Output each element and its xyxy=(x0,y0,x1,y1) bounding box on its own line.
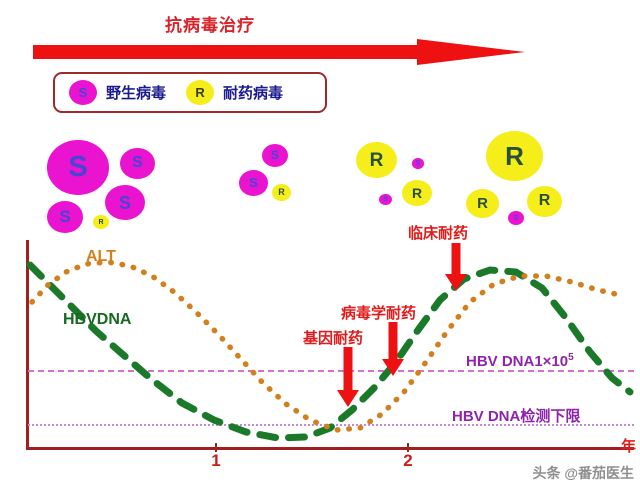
legend-resistant-virus-label: 耐药病毒 xyxy=(223,82,283,103)
legend-resistant-virus-icon: R xyxy=(186,80,214,105)
arrow-clinical-resistance xyxy=(445,243,467,291)
virion-resistant: R xyxy=(272,184,291,201)
virion-wild: S xyxy=(120,148,155,179)
virion-resistant: R xyxy=(527,186,562,217)
virion-wild: S xyxy=(47,201,83,233)
legend-wild-virus-label: 野生病毒 xyxy=(106,82,166,103)
arrow-virologic-resistance xyxy=(382,322,404,376)
virion-wild: S xyxy=(262,144,288,167)
x-axis-unit-label: 年 xyxy=(621,435,636,456)
arrow-genotypic-resistance xyxy=(337,347,359,407)
x-tick-label: 1 xyxy=(211,451,220,471)
legend: S 野生病毒 R 耐药病毒 xyxy=(53,72,327,113)
annotation-label-virologic-resistance: 病毒学耐药 xyxy=(341,302,416,323)
y-axis xyxy=(26,240,29,450)
virion-wild: S xyxy=(508,211,524,225)
hbv-resistance-diagram: 抗病毒治疗 S 野生病毒 R 耐药病毒 SSSSRSSRRSRSRRRS 12 … xyxy=(0,0,640,489)
legend-wild-virus-icon: S xyxy=(69,80,97,105)
virion-wild: S xyxy=(47,140,109,195)
annotation-label-clinical-resistance: 临床耐药 xyxy=(408,222,468,243)
curve-label-alt: ALT xyxy=(86,248,116,266)
virion-wild: S xyxy=(379,194,392,205)
x-axis xyxy=(26,447,634,450)
virion-resistant: R xyxy=(486,131,543,181)
virion-wild: S xyxy=(239,170,268,196)
virion-wild: S xyxy=(412,158,424,169)
watermark: 头条 @番茄医生 xyxy=(532,463,634,483)
annotation-label-genotypic-resistance: 基因耐药 xyxy=(303,327,363,348)
x-tick-label: 2 xyxy=(403,451,412,471)
threshold-label-detection-limit: HBV DNA检测下限 xyxy=(452,405,580,426)
virion-wild: S xyxy=(105,185,145,220)
virion-resistant: R xyxy=(356,142,397,178)
threshold-line-hbv-dna-1e5 xyxy=(28,370,634,372)
virion-resistant: R xyxy=(466,189,499,218)
antiviral-therapy-arrow xyxy=(33,39,525,65)
curve-label-hbvdna: HBVDNA xyxy=(63,311,131,329)
virion-resistant: R xyxy=(93,215,109,229)
page-title: 抗病毒治疗 xyxy=(0,11,420,36)
virion-resistant: R xyxy=(402,180,432,206)
threshold-label-hbv-dna-1e5: HBV DNA1×105 xyxy=(466,352,574,370)
